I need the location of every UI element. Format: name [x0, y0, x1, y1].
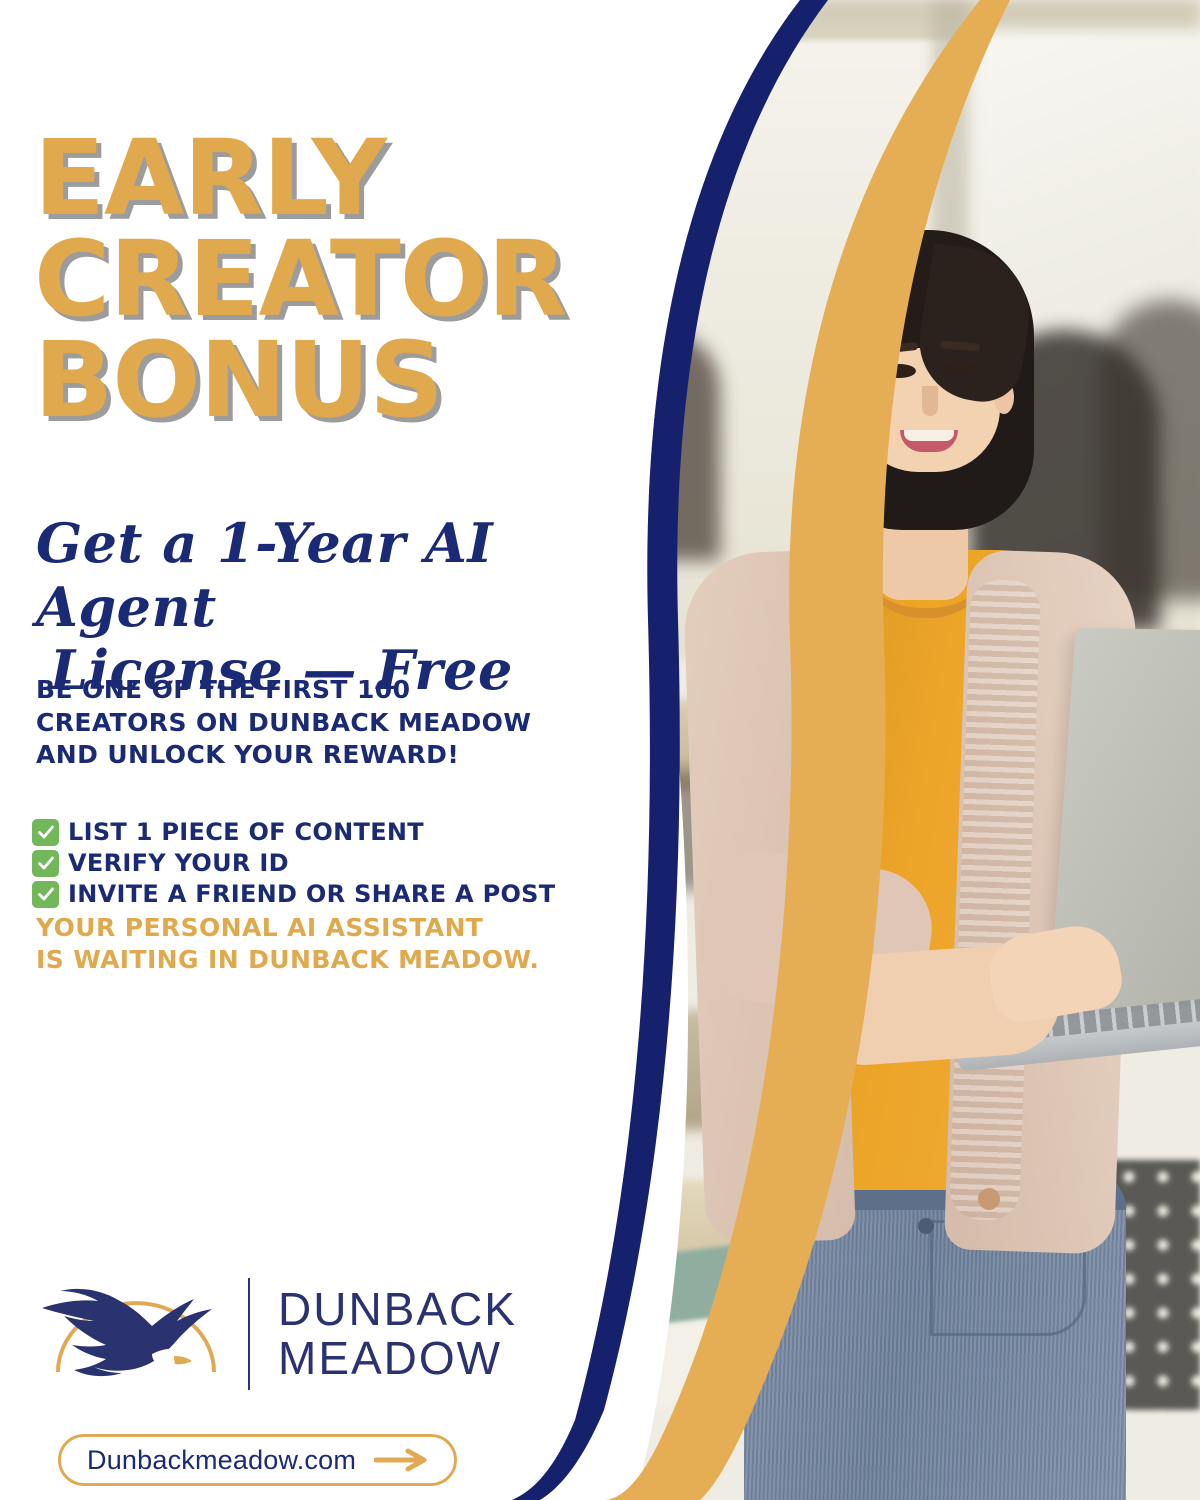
lede-line-1: BE ONE OF THE FIRST 100 — [36, 674, 556, 707]
page-title: EARLY CREATOR BONUS — [34, 128, 594, 431]
content-column: EARLY CREATOR BONUS Get a 1-Year AI Agen… — [0, 0, 600, 1500]
brand-name-line-1: DUNBACK — [278, 1285, 517, 1334]
brand-logo: DUNBACK MEADOW — [36, 1268, 517, 1400]
subject-nose — [922, 386, 938, 416]
list-item: INVITE A FRIEND OR SHARE A POST — [32, 880, 572, 908]
headline-line-3: BONUS — [34, 330, 594, 431]
tagline-line-1: YOUR PERSONAL AI ASSISTANT — [36, 912, 566, 944]
website-url-label: Dunbackmeadow.com — [87, 1445, 356, 1476]
poster-canvas: EARLY CREATOR BONUS Get a 1-Year AI Agen… — [0, 0, 1200, 1500]
list-item: VERIFY YOUR ID — [32, 849, 572, 877]
subject-teeth — [904, 430, 954, 441]
eagle-icon — [36, 1268, 236, 1400]
checkmark-icon — [32, 819, 59, 846]
subheadline-line-1: Get a 1-Year AI Agent — [36, 512, 576, 639]
subject-eye-right — [942, 362, 976, 376]
tagline-line-2: IS WAITING IN DUNBACK MEADOW. — [36, 944, 566, 976]
logo-divider — [248, 1278, 250, 1390]
brand-name-line-2: MEADOW — [278, 1334, 517, 1383]
photo-background — [540, 0, 1200, 1500]
website-cta-button[interactable]: Dunbackmeadow.com — [58, 1434, 457, 1486]
lede-line-3: AND UNLOCK YOUR REWARD! — [36, 739, 556, 772]
brand-wordmark: DUNBACK MEADOW — [278, 1285, 517, 1383]
checklist-item-label: VERIFY YOUR ID — [68, 849, 289, 877]
checklist-item-label: INVITE A FRIEND OR SHARE A POST — [68, 880, 555, 908]
checkmark-icon — [32, 850, 59, 877]
headline-line-2: CREATOR — [34, 229, 594, 330]
list-item: LIST 1 PIECE OF CONTENT — [32, 818, 572, 846]
headline-line-1: EARLY — [34, 128, 594, 229]
lede-line-2: CREATORS ON DUNBACK MEADOW — [36, 707, 556, 740]
photo-subject — [660, 160, 1200, 1500]
checkmark-icon — [32, 881, 59, 908]
subject-head — [836, 240, 1016, 490]
checklist-item-label: LIST 1 PIECE OF CONTENT — [68, 818, 424, 846]
subject-eye-left — [882, 364, 916, 378]
tagline: YOUR PERSONAL AI ASSISTANT IS WAITING IN… — [36, 912, 566, 976]
hero-photo — [540, 0, 1200, 1500]
arrow-right-icon — [374, 1448, 428, 1472]
requirements-checklist: LIST 1 PIECE OF CONTENT VERIFY YOUR ID I… — [32, 818, 572, 911]
subject-rivet — [918, 1218, 934, 1234]
lede-paragraph: BE ONE OF THE FIRST 100 CREATORS ON DUNB… — [36, 674, 556, 772]
cardigan-button-lower — [978, 1188, 1000, 1210]
